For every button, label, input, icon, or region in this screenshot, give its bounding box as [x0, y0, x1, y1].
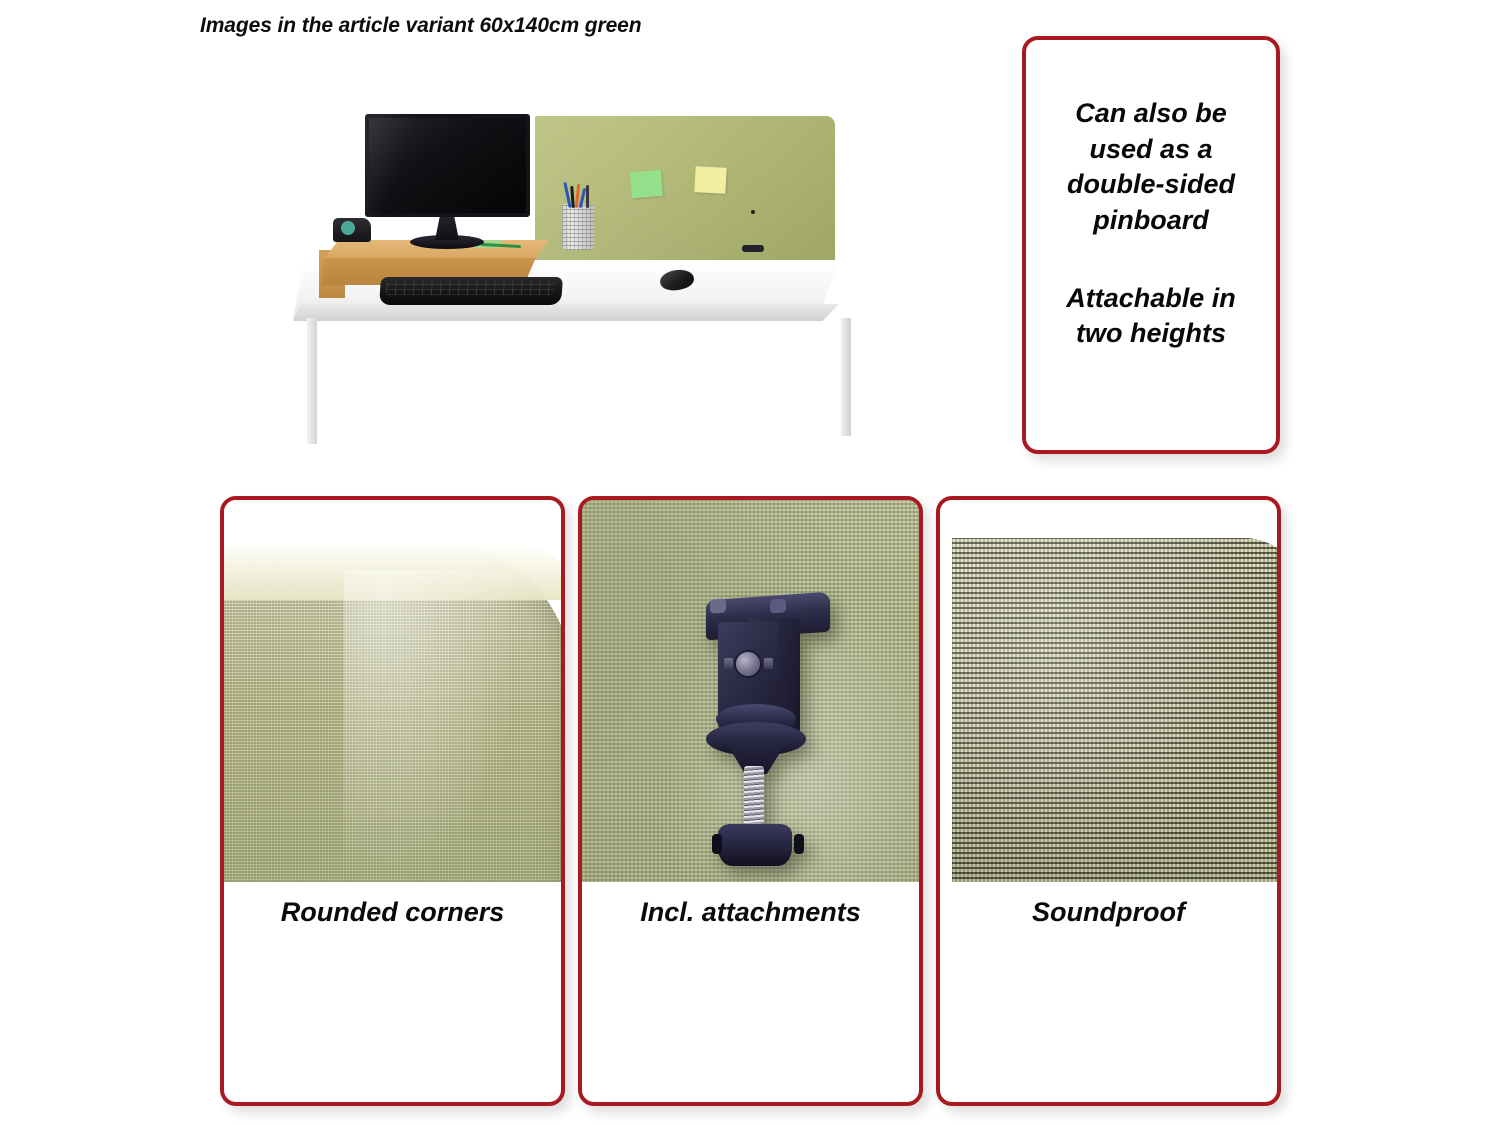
- pin-icon: [751, 210, 755, 214]
- fabric-swatch-photo: [940, 500, 1277, 882]
- office-desk-photo: [285, 92, 865, 452]
- highlight-text-pinboard: Can also be used as a double-sided pinbo…: [1026, 96, 1276, 239]
- panel-corner-photo: [224, 500, 561, 882]
- clamp-threaded-rod: [744, 766, 764, 832]
- pen-cup-mesh: [562, 204, 594, 250]
- sticky-note-yellow: [694, 166, 726, 194]
- monitor-neck: [435, 214, 459, 240]
- highlight-text-heights: Attachable in two heights: [1026, 281, 1276, 352]
- swatch-shading: [952, 538, 1277, 882]
- desk-clamp: [702, 596, 830, 866]
- panel-clamp-base: [742, 245, 764, 252]
- pen: [586, 185, 589, 208]
- pens-group: [563, 180, 593, 208]
- clamp-notch-left: [710, 598, 726, 613]
- desk-leg-right: [841, 318, 851, 436]
- fabric-swatch: [952, 538, 1277, 882]
- clamp-knob-notch-right: [794, 834, 804, 854]
- clamp-notch-right: [770, 598, 786, 613]
- panel-top-edge: [224, 544, 561, 600]
- clamp-knob: [718, 824, 792, 866]
- feature-card-incl-attachments: Incl. attachments: [578, 496, 923, 1106]
- feature-highlight-card: Can also be used as a double-sided pinbo…: [1022, 36, 1280, 454]
- tape-roll: [341, 221, 355, 235]
- keyboard-keys: [386, 281, 555, 295]
- feature-card-soundproof: Soundproof: [936, 496, 1281, 1106]
- clamp-bolt-right: [764, 658, 773, 669]
- feature-caption-rounded-corners: Rounded corners: [224, 882, 561, 942]
- desk-leg-left: [307, 318, 317, 444]
- pen-cup: [562, 204, 594, 250]
- monitor-gloss: [365, 114, 530, 217]
- sticky-note-green: [630, 170, 663, 199]
- keyboard: [379, 277, 563, 305]
- clamp-knob-notch-left: [712, 834, 722, 854]
- feature-card-rounded-corners: Rounded corners: [220, 496, 565, 1106]
- clamp-bolt-left: [724, 658, 733, 669]
- desk-edge: [293, 304, 839, 321]
- clamp-screw-head: [736, 652, 760, 676]
- feature-caption-incl-attachments: Incl. attachments: [582, 882, 919, 942]
- feature-caption-soundproof: Soundproof: [940, 882, 1277, 942]
- page-title: Images in the article variant 60x140cm g…: [200, 14, 642, 38]
- clamp-photo: [582, 500, 919, 882]
